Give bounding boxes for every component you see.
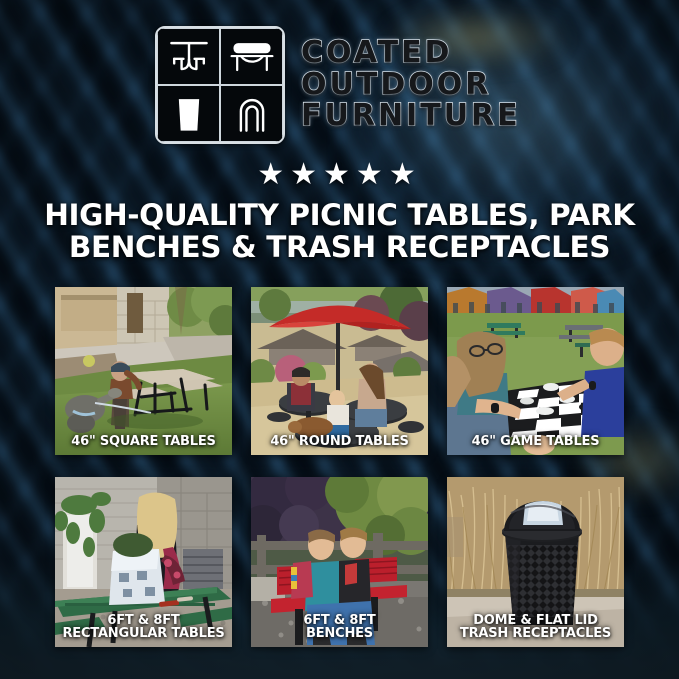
product-card-benches[interactable]: 6FT & 8FT BENCHES: [251, 477, 428, 647]
product-label-line1: 46" ROUND TABLES: [270, 434, 408, 449]
product-card-square-tables[interactable]: 46" SQUARE TABLES: [55, 287, 232, 455]
headline-line-2: BENCHES & TRASH RECEPTACLES: [24, 232, 655, 264]
product-photo-square-tables: [55, 287, 232, 455]
product-card-game-tables[interactable]: 46" GAME TABLES: [447, 287, 624, 455]
promo-banner: COATED OUTDOOR FURNITURE ★★★★★ HIGH-QUAL…: [0, 0, 679, 679]
logo-lockup: COATED OUTDOOR FURNITURE: [155, 26, 521, 144]
product-label: 6FT & 8FT RECTANGULAR TABLES: [55, 614, 232, 641]
product-label: DOME & FLAT LID TRASH RECEPTACLES: [447, 614, 624, 641]
product-card-rectangular-tables[interactable]: 6FT & 8FT RECTANGULAR TABLES: [55, 477, 232, 647]
page-title: HIGH-QUALITY PICNIC TABLES, PARK BENCHES…: [0, 200, 679, 264]
product-label: 46" GAME TABLES: [447, 435, 624, 449]
product-card-trash-receptacles[interactable]: DOME & FLAT LID TRASH RECEPTACLES: [447, 477, 624, 647]
product-label: 46" ROUND TABLES: [251, 435, 428, 449]
product-grid: 46" SQUARE TABLES: [55, 287, 625, 647]
park-bench-icon: [220, 28, 283, 85]
product-label-line2: RECTANGULAR TABLES: [59, 627, 228, 641]
brand-name-line3: FURNITURE: [301, 101, 521, 132]
product-photo-round-tables: [251, 287, 428, 455]
bike-rack-arch-icon: [220, 85, 283, 142]
star-rating: ★★★★★: [0, 160, 679, 190]
headline-line-1: HIGH-QUALITY PICNIC TABLES, PARK: [24, 200, 655, 232]
trash-receptacle-icon: [157, 85, 220, 142]
product-photo-game-tables: [447, 287, 624, 455]
round-pedestal-table-icon: [157, 28, 220, 85]
brand-name-line1: COATED: [301, 38, 521, 69]
product-label-line2: TRASH RECEPTACLES: [451, 627, 620, 641]
product-label-line2: BENCHES: [255, 627, 424, 641]
brand-header: COATED OUTDOOR FURNITURE: [0, 0, 679, 150]
logo-icon-grid: [155, 26, 285, 144]
product-label-line1: 46" SQUARE TABLES: [71, 434, 215, 449]
product-label: 46" SQUARE TABLES: [55, 435, 232, 449]
product-card-round-tables[interactable]: 46" ROUND TABLES: [251, 287, 428, 455]
product-label: 6FT & 8FT BENCHES: [251, 614, 428, 641]
brand-name-line2: OUTDOOR: [301, 70, 521, 101]
product-label-line1: 46" GAME TABLES: [472, 434, 600, 449]
brand-wordmark: COATED OUTDOOR FURNITURE: [301, 38, 521, 133]
